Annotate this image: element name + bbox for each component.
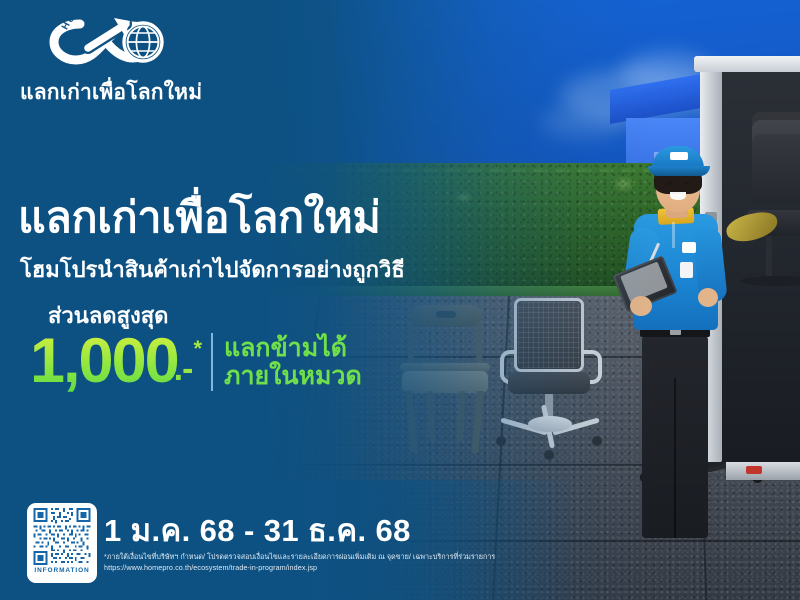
brand-logo: HomePro แลกเก่าเพื่อโลกใหม่ [18,10,248,109]
cross-line-1: แลกข้ามได้ [224,334,362,362]
qr-code-icon[interactable] [32,508,92,565]
headline-title: แลกเก่าเพื่อโลกใหม่ [18,196,381,241]
svg-text:HomePro: HomePro [60,10,113,32]
price-row: 1,000 .- * แลกข้ามได้ ภายในหมวด [30,330,362,393]
vertical-divider [211,333,213,391]
qr-information-card[interactable]: INFORMATION [27,503,97,583]
cross-line-2: ภายในหมวด [224,362,362,390]
legal-disclaimer: *ภายใต้เงื่อนไขที่บริษัทฯ กำหนด/ โปรดตรว… [104,551,495,573]
legal-terms: *ภายใต้เงื่อนไขที่บริษัทฯ กำหนด/ โปรดตรว… [104,552,495,561]
legal-url[interactable]: https://www.homepro.co.th/ecosystem/trad… [104,562,495,573]
cross-category-note: แลกข้ามได้ ภายในหมวด [224,334,362,390]
infinity-globe-arrow-logo: HomePro [42,10,194,72]
logo-tagline: แลกเก่าเพื่อโลกใหม่ [20,76,248,109]
currency-suffix: .- [174,350,193,393]
qr-label: INFORMATION [32,567,92,574]
headline-subtitle: โฮมโปรนำสินค้าเก่าไปจัดการอย่างถูกวิธี [20,252,405,287]
promo-period: 1 ม.ค. 68 - 31 ธ.ค. 68 [104,505,411,555]
logo-wordmark: HomePro [60,10,113,32]
asterisk-mark: * [193,336,202,362]
discount-amount: 1,000 [30,330,178,393]
promo-banner: HomePro แลกเก่าเพื่อโลกใหม่ แลกเก่าเพื่อ… [0,0,800,600]
